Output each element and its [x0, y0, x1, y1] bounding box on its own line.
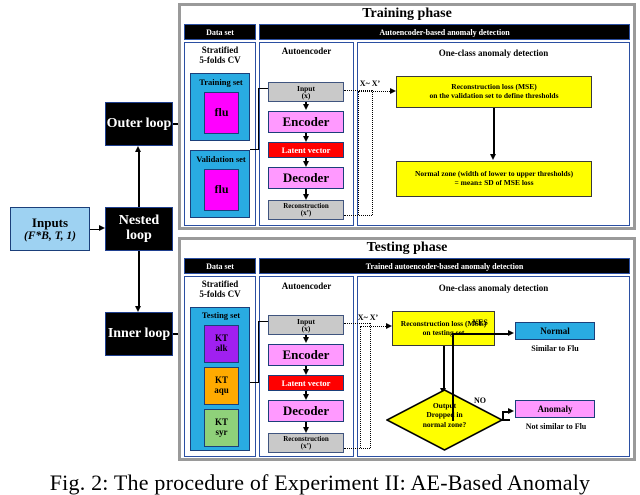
- training-cv-label: Stratified 5-folds CV: [184, 46, 256, 66]
- testing-sample-aqu: KT aqu: [204, 367, 239, 405]
- no-label: NO: [460, 396, 500, 407]
- arrowhead-inputs-to-nested: [99, 225, 105, 231]
- anomaly-result-caption: Not similar to Flu: [512, 422, 600, 433]
- training-phase-title: Training phase: [178, 5, 636, 23]
- training-latent-box: Latent vector: [268, 142, 344, 158]
- training-reconstruction-box: Reconstruction (x’): [268, 200, 344, 220]
- training-autoencoder-title: Autoencoder: [259, 46, 354, 58]
- inputs-subtitle: (F*B, T, 1): [24, 230, 76, 243]
- line-loss-to-decision: [443, 346, 445, 390]
- testing-cv-label: Stratified 5-folds CV: [184, 280, 256, 300]
- normal-result-caption: Similar to Flu: [515, 344, 595, 355]
- yes-branch-horizontal: [452, 333, 508, 335]
- arrowhead-nested-to-inner: [135, 306, 141, 312]
- training-compare-label: X~ X’: [350, 79, 390, 90]
- testing-sample-syr: KT syr: [204, 409, 239, 447]
- outer-loop-box[interactable]: Outer loop: [105, 102, 173, 146]
- testing-autoencoder-title: Autoencoder: [259, 281, 354, 293]
- arrowhead-loss-to-normalzone-training: [490, 154, 496, 160]
- inputs-title: Inputs: [32, 216, 68, 230]
- figure-caption: Fig. 2: The procedure of Experiment II: …: [0, 470, 640, 495]
- arrowhead-no-branch: [508, 408, 514, 414]
- outer-loop-label: Outer loop: [107, 117, 172, 132]
- training-dataset-header: Data set: [184, 24, 256, 40]
- training-anomaly-title: One-class anomaly detection: [357, 48, 630, 60]
- dotted-vert-b-testing: [360, 326, 361, 448]
- testing-phase-title: Testing phase: [178, 239, 636, 257]
- arrowhead-yes-branch: [508, 330, 514, 336]
- testing-latent-box: Latent vector: [268, 375, 344, 391]
- testing-input-box: Input (x): [268, 315, 344, 335]
- training-decoder-box: Decoder: [268, 167, 344, 189]
- training-reconstruction-loss-box: Reconstruction loss (MSE) on the validat…: [396, 76, 592, 108]
- arrow-nested-to-outer: [138, 152, 140, 207]
- line-input-encoder-training: [305, 102, 306, 106]
- dotted-to-loss-training: [358, 91, 392, 92]
- connector-dataset-ae-training-v: [258, 88, 259, 150]
- arrowhead-nested-to-outer: [135, 146, 141, 152]
- dotted-recon-right-training: [344, 215, 372, 216]
- dotted-input-right-testing: [344, 323, 370, 324]
- testing-set-box[interactable]: Testing set KT alk KT aqu KT syr: [190, 307, 250, 451]
- dotted-vert-a-testing: [370, 323, 371, 448]
- connector-dataset-ae-training-h2: [250, 149, 259, 150]
- yes-branch-vertical: [452, 333, 454, 421]
- training-encoder-box: Encoder: [268, 111, 344, 133]
- inputs-box[interactable]: Inputs (F*B, T, 1): [10, 207, 90, 251]
- training-input-box: Input (x): [268, 82, 344, 102]
- nested-loop-box[interactable]: Nested loop: [105, 207, 173, 251]
- testing-decoder-box: Decoder: [268, 400, 344, 422]
- dotted-vert-a-training: [372, 90, 373, 215]
- training-set-label: Training set: [191, 76, 251, 89]
- validation-set-label: Validation set: [191, 153, 251, 166]
- training-detection-header: Autoencoder-based anomaly detection: [259, 24, 630, 40]
- connector-dataset-ae-training-h1: [258, 88, 268, 89]
- arrow-inputs-to-nested: [90, 229, 99, 231]
- inner-loop-box[interactable]: Inner loop: [105, 312, 173, 356]
- dotted-recon-right-testing: [344, 448, 370, 449]
- testing-reconstruction-box: Reconstruction (x’): [268, 433, 344, 453]
- validation-set-box[interactable]: Validation set flu: [190, 150, 250, 218]
- nested-loop-label: Nested loop: [106, 214, 172, 243]
- line-loss-to-normalzone-training: [493, 108, 495, 156]
- connector-dataset-ae-testing-h2: [250, 382, 259, 383]
- inner-loop-label: Inner loop: [108, 327, 170, 342]
- validation-set-class-box: flu: [204, 169, 239, 211]
- connector-dataset-ae-testing-h1: [258, 321, 268, 322]
- testing-dataset-header: Data set: [184, 258, 256, 274]
- yes-label: YES: [460, 318, 500, 329]
- testing-set-label: Testing set: [191, 310, 251, 322]
- anomaly-result-box: Anomaly: [515, 400, 595, 418]
- connector-dataset-ae-testing-v: [258, 321, 259, 383]
- training-set-class-box: flu: [204, 92, 239, 134]
- testing-anomaly-title: One-class anomaly detection: [357, 283, 630, 295]
- dotted-vert-b-training: [358, 91, 359, 215]
- training-set-box[interactable]: Training set flu: [190, 73, 250, 141]
- arrow-nested-to-inner: [138, 251, 140, 306]
- testing-encoder-box: Encoder: [268, 344, 344, 366]
- dotted-to-loss-testing: [360, 326, 388, 327]
- testing-sample-alk: KT alk: [204, 325, 239, 363]
- normal-result-box: Normal: [515, 322, 595, 340]
- arrow-input-to-encoder-testing: [303, 337, 309, 343]
- training-normal-zone-box: Normal zone (width of lower to upper thr…: [396, 161, 592, 197]
- testing-detection-header: Trained autoencoder-based anomaly detect…: [259, 258, 630, 274]
